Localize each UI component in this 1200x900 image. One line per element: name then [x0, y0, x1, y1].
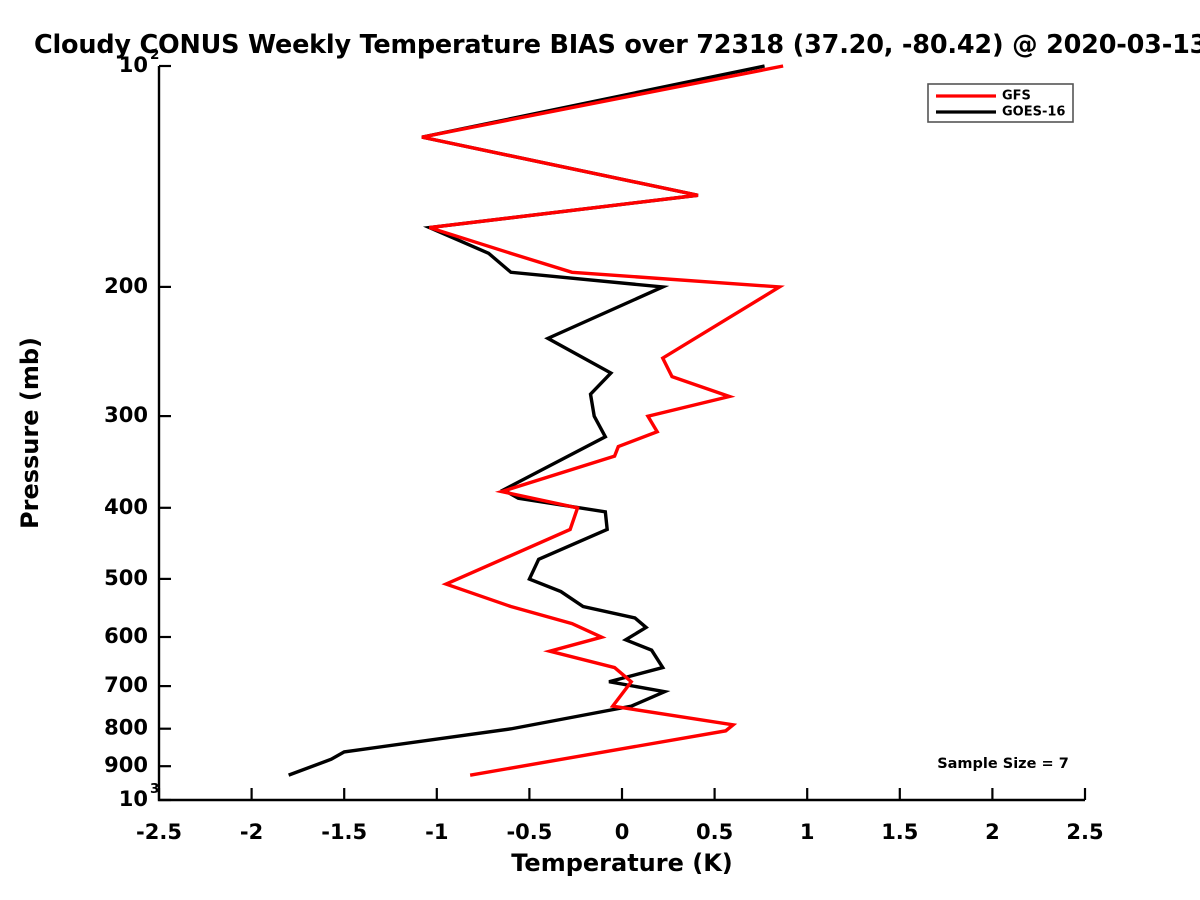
- y-tick-label: 800: [104, 716, 148, 740]
- y-tick-label: 300: [104, 403, 148, 427]
- y-tick-label-top-base: 10: [119, 53, 148, 77]
- x-tick-label: 0.5: [696, 820, 733, 844]
- axis-spines: [159, 66, 1085, 800]
- y-tick-label: 400: [104, 495, 148, 519]
- x-tick-label: -1.5: [321, 820, 367, 844]
- y-tick-label: 700: [104, 673, 148, 697]
- x-tick-label: -2: [240, 820, 263, 844]
- y-tick-label: 200: [104, 274, 148, 298]
- y-tick-label-bottom-exponent: 3: [150, 781, 159, 797]
- x-tick-label: 2.5: [1066, 820, 1103, 844]
- y-tick-label: 500: [104, 566, 148, 590]
- y-tick-label: 900: [104, 753, 148, 777]
- series-line-goes-16: [289, 66, 765, 775]
- y-tick-label: 600: [104, 624, 148, 648]
- temperature-bias-profile-chart: -2.5 -2 -1.5 -1 -0.5 0 0.5 1 1.5 2 2.5 1…: [0, 0, 1200, 900]
- legend-label-goes-16: GOES-16: [1002, 105, 1065, 120]
- x-tick-label: 2: [985, 820, 1000, 844]
- y-axis-tick-labels: 10 2 200 300 400 500 600 700 800 900 10 …: [104, 47, 159, 811]
- legend[interactable]: GFS GOES-16: [928, 84, 1073, 122]
- x-axis-title: Temperature (K): [511, 849, 733, 877]
- y-axis-title: Pressure (mb): [16, 337, 44, 529]
- series-line-gfs: [422, 66, 783, 775]
- x-tick-label: 1: [800, 820, 815, 844]
- data-series-group: [289, 66, 783, 775]
- sample-size-annotation: Sample Size = 7: [937, 756, 1069, 772]
- x-tick-label: -2.5: [136, 820, 182, 844]
- y-tick-label-bottom-base: 10: [119, 787, 148, 811]
- y-axis-ticks: [159, 66, 171, 800]
- figure-canvas: Cloudy CONUS Weekly Temperature BIAS ove…: [0, 0, 1200, 900]
- y-tick-label-top-exponent: 2: [150, 47, 159, 63]
- x-axis-tick-labels: -2.5 -2 -1.5 -1 -0.5 0 0.5 1 1.5 2 2.5: [136, 820, 1104, 844]
- x-tick-label: 0: [615, 820, 630, 844]
- x-tick-label: -0.5: [506, 820, 552, 844]
- x-tick-label: -1: [425, 820, 448, 844]
- x-tick-label: 1.5: [881, 820, 918, 844]
- legend-label-gfs: GFS: [1002, 89, 1031, 104]
- x-axis-ticks: [159, 788, 1085, 800]
